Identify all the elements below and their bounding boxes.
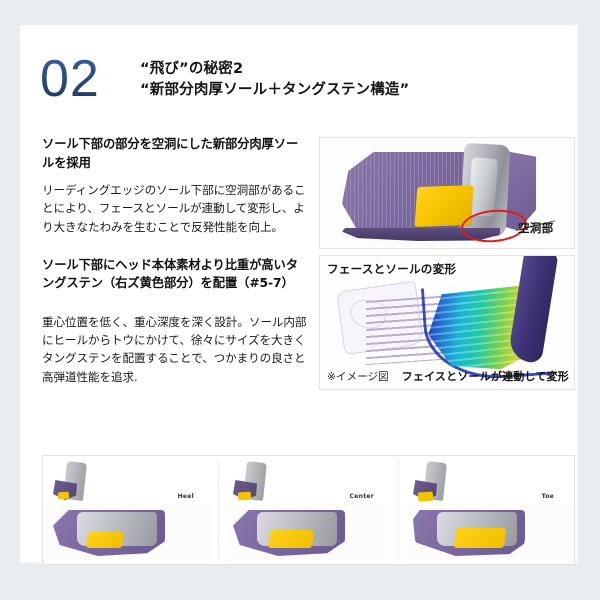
image-disclaimer-note: ※イメージ図 bbox=[327, 369, 389, 384]
page-title-line-1: “飛び”の秘密2 bbox=[140, 59, 560, 80]
description-column: ソール下部の部分を空洞にした新部分肉厚ソールを採用 リーディングエッジのソール下… bbox=[42, 135, 310, 397]
section-columns: Heel Center bbox=[47, 460, 570, 560]
illustration-sections-panel: Heel Center bbox=[42, 455, 575, 565]
section-label-toe: Toe bbox=[542, 493, 554, 500]
section-number: 02 bbox=[40, 51, 100, 107]
section-tungsten-shape bbox=[86, 532, 124, 548]
content-card: 02 “飛び”の秘密2 “新部分肉厚ソール＋タングステン構造” ソール下部の部分… bbox=[20, 25, 578, 563]
deformation-caption: フェイスとソールが連動して変形 bbox=[402, 368, 569, 384]
text-block-center-of-gravity: 重心位置を低く、重心深度を深く設計。ソール内部にヒールからトウにかけて、徐々にサ… bbox=[42, 313, 310, 386]
cross-section-center bbox=[227, 504, 390, 562]
section-title-group: “飛び”の秘密2 “新部分肉厚ソール＋タングステン構造” bbox=[140, 59, 560, 101]
mini-club-view-center: Center bbox=[227, 460, 390, 502]
section-label-center: Center bbox=[350, 493, 374, 500]
section-header: 02 “飛び”の秘密2 “新部分肉厚ソール＋タングステン構造” bbox=[40, 57, 560, 117]
text-block-tungsten: ソール下部にヘッド本体素材より比重が高いタングステン（右ズ黄色部分）を配置（#5… bbox=[42, 256, 310, 293]
cavity-illustration: 空洞部 bbox=[320, 138, 574, 248]
column-divider bbox=[218, 460, 219, 560]
section-column-center: Center bbox=[227, 460, 390, 560]
mini-tungsten-shape bbox=[58, 492, 69, 500]
section-label-heel: Heel bbox=[178, 493, 194, 500]
spacer bbox=[42, 304, 310, 313]
page-title-line-2: “新部分肉厚ソール＋タングステン構造” bbox=[140, 80, 560, 101]
deformation-panel-title: フェースとソールの変形 bbox=[327, 261, 456, 277]
mini-tungsten-shape bbox=[238, 492, 252, 501]
section-tungsten-shape bbox=[268, 530, 314, 548]
block1-body: リーディングエッジのソール下部に空洞部があることにより、フェースとソールが連動し… bbox=[42, 181, 310, 236]
text-block-cavity-sole: ソール下部の部分を空洞にした新部分肉厚ソールを採用 リーディングエッジのソール下… bbox=[42, 135, 310, 236]
spacer bbox=[42, 247, 310, 256]
block3-body: 重心位置を低く、重心深度を深く設計。ソール内部にヒールからトウにかけて、徐々にサ… bbox=[42, 313, 310, 386]
column-divider bbox=[398, 460, 399, 560]
block2-heading: ソール下部にヘッド本体素材より比重が高いタングステン（右ズ黄色部分）を配置（#5… bbox=[42, 256, 310, 293]
cavity-callout-label: 空洞部 bbox=[518, 220, 553, 236]
deformation-illustration: フェースとソールの変形 ※イメージ図 フェイスとソールが連動して変形 bbox=[320, 256, 574, 389]
illustration-deformation-panel: フェースとソールの変形 ※イメージ図 フェイスとソールが連動して変形 bbox=[319, 255, 575, 390]
mini-club-view-heel: Heel bbox=[47, 460, 210, 502]
section-column-toe: Toe bbox=[407, 460, 570, 560]
section-column-heel: Heel bbox=[47, 460, 210, 560]
mini-tungsten-shape bbox=[418, 491, 434, 501]
block1-heading: ソール下部の部分を空洞にした新部分肉厚ソールを採用 bbox=[42, 135, 310, 172]
cross-section-toe bbox=[407, 504, 570, 562]
cross-section-heel bbox=[47, 504, 210, 562]
illustration-cavity-panel: 空洞部 bbox=[319, 137, 575, 249]
mini-club-view-toe: Toe bbox=[407, 460, 570, 502]
section-tungsten-shape bbox=[454, 528, 506, 548]
